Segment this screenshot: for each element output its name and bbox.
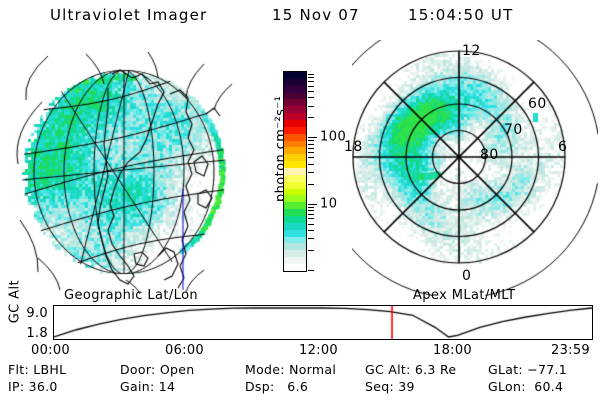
colorbar-minor-tick [308, 250, 314, 251]
polar-mlat-ring-70: 70 [504, 122, 523, 138]
colorbar-minor-tick [308, 218, 314, 219]
status-readout: Flt: LBHL Door: Open Mode: Normal GC Alt… [0, 362, 600, 398]
status-gain: Gain: 14 [120, 379, 175, 394]
timeline-x-tick-4: 23:59 [551, 343, 590, 358]
status-seq: Seq: 39 [365, 379, 415, 394]
colorbar-minor-tick [308, 184, 314, 185]
colorbar-minor-tick [308, 224, 314, 225]
colorbar-minor-tick [308, 238, 314, 239]
colorbar-minor-tick [308, 144, 314, 145]
colorbar-minor-tick [308, 164, 314, 165]
colorbar-minor-tick [308, 207, 314, 208]
timeline-y-tick-max: 9.0 [14, 306, 48, 321]
status-glat: GLat: −77.1 [488, 362, 567, 377]
apex-polar-image[interactable] [352, 40, 598, 296]
colorbar-minor-tick [308, 210, 314, 211]
colorbar-major-tick [308, 204, 317, 205]
polar-mlt-label-6: 6 [558, 139, 567, 155]
colorbar-minor-tick [308, 106, 314, 107]
status-door: Door: Open [120, 362, 194, 377]
colorbar-minor-tick [308, 152, 314, 153]
polar-mlat-ring-80: 80 [480, 147, 499, 163]
colorbar-minor-tick [308, 86, 314, 87]
colorbar-minor-tick [308, 81, 314, 82]
colorbar-minor-tick [308, 77, 314, 78]
colorbar-tick-label-100: 100 [320, 130, 346, 145]
colorbar-minor-tick [308, 214, 314, 215]
polar-mlat-ring-60: 60 [528, 96, 547, 112]
header-bar: Ultraviolet Imager 15 Nov 07 15:04:50 UT [0, 6, 600, 30]
instrument-title: Ultraviolet Imager [50, 6, 207, 24]
colorbar-minor-tick [308, 157, 314, 158]
status-mode: Mode: Normal [245, 362, 336, 377]
timeline-header-right: Apex MLat/MLT [413, 288, 515, 303]
colorbar-tick-label-10: 10 [320, 196, 338, 211]
timeline-x-tick-0: 00:00 [31, 343, 70, 358]
colorbar-minor-tick [308, 74, 314, 75]
observation-date: 15 Nov 07 [272, 6, 360, 24]
colorbar-panel: photon cm⁻²s⁻¹ 10010 [252, 44, 352, 296]
colorbar-minor-tick [308, 91, 314, 92]
ultraviolet-imager-display: Ultraviolet Imager 15 Nov 07 15:04:50 UT… [0, 0, 600, 400]
colorbar-minor-tick [308, 172, 314, 173]
timeline-x-tick-2: 12:00 [299, 343, 338, 358]
orbit-altitude-trace[interactable] [54, 306, 592, 339]
colorbar-minor-tick [308, 270, 314, 271]
status-dsp: Dsp: 6.6 [245, 379, 308, 394]
colorbar-minor-tick [308, 140, 314, 141]
colorbar-minor-tick [308, 230, 314, 231]
colorbar-gradient [284, 72, 306, 271]
orbit-timeline-panel[interactable]: Geographic Lat/Lon Apex MLat/MLT GC Alt … [0, 288, 600, 358]
timeline-y-tick-min: 1.8 [14, 326, 48, 341]
status-flight: Flt: LBHL [8, 362, 66, 377]
geographic-globe-image[interactable] [8, 44, 248, 294]
polar-mlt-label-18: 18 [344, 139, 363, 155]
status-gc-alt: GC Alt: 6.3 Re [365, 362, 456, 377]
observation-time: 15:04:50 UT [408, 6, 513, 24]
geographic-globe-panel[interactable] [8, 44, 248, 294]
colorbar-minor-tick [308, 97, 314, 98]
polar-mlt-label-12: 12 [462, 43, 481, 59]
timeline-plot-area[interactable] [53, 305, 593, 340]
timeline-x-tick-1: 06:00 [165, 343, 204, 358]
colorbar-swatch[interactable] [283, 71, 307, 272]
colorbar-minor-tick [308, 117, 314, 118]
colorbar-minor-tick [308, 148, 314, 149]
apex-polar-panel[interactable]: 12 18 6 0 60 70 80 [352, 40, 598, 296]
status-ip: IP: 36.0 [8, 379, 58, 394]
status-glon: GLon: 60.4 [488, 379, 563, 394]
timeline-x-tick-3: 18:00 [433, 343, 472, 358]
timeline-header-left: Geographic Lat/Lon [64, 288, 198, 303]
polar-mlt-label-0: 0 [462, 268, 471, 284]
colorbar-major-tick [308, 137, 317, 138]
